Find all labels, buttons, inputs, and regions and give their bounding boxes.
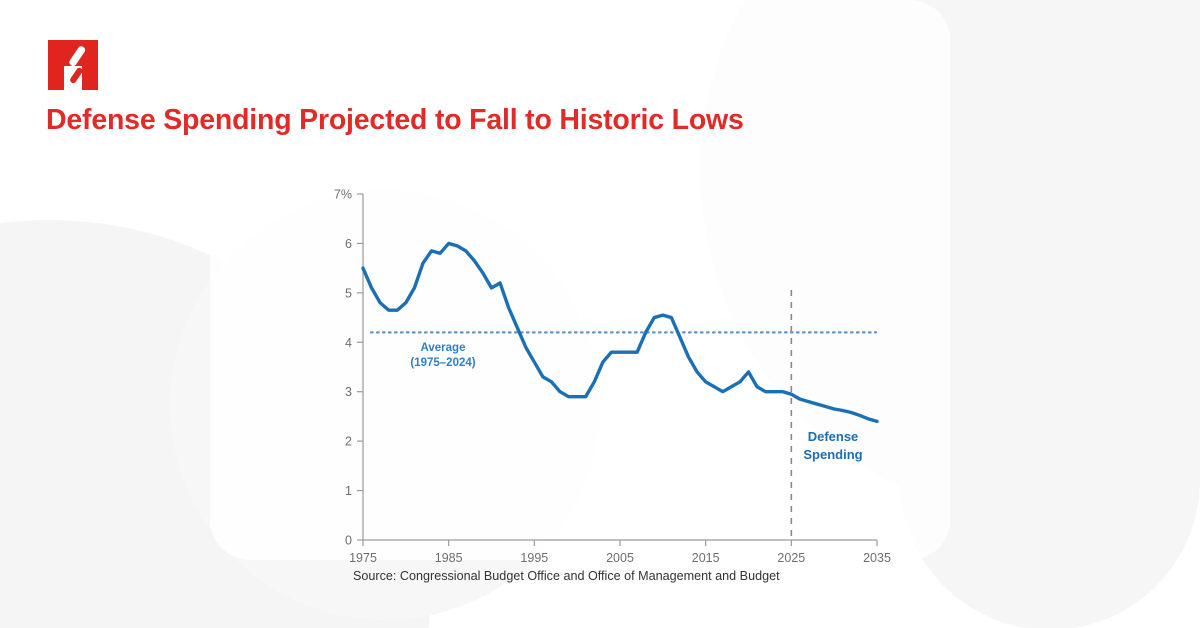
average-label-line1: Average	[421, 342, 466, 354]
x-tick-label: 2035	[863, 551, 891, 565]
y-tick-label: 3	[345, 385, 352, 399]
y-tick-label: 5	[345, 286, 352, 300]
y-tick-label: 0	[345, 534, 352, 548]
x-tick-label: 1975	[349, 551, 377, 565]
series-label-line1: Defense	[808, 429, 859, 444]
defense-spending-line-chart: 01234567%1975198519952005201520252035Ave…	[0, 0, 1200, 628]
x-tick-label: 1995	[520, 551, 548, 565]
defense-spending-line	[363, 243, 877, 421]
infographic-page: Defense Spending Projected to Fall to Hi…	[0, 0, 1200, 628]
y-tick-label: 2	[345, 435, 352, 449]
x-tick-label: 2025	[777, 551, 805, 565]
average-label-line2: (1975–2024)	[410, 357, 475, 369]
series-label-line2: Spending	[803, 447, 862, 462]
y-tick-label: 4	[345, 336, 352, 350]
x-tick-label: 2015	[692, 551, 720, 565]
source-note: Source: Congressional Budget Office and …	[353, 569, 780, 583]
x-tick-label: 1985	[435, 551, 463, 565]
x-tick-label: 2005	[606, 551, 634, 565]
y-tick-label: 6	[345, 237, 352, 251]
y-tick-label: 1	[345, 484, 352, 498]
y-tick-label: 7%	[334, 188, 352, 202]
